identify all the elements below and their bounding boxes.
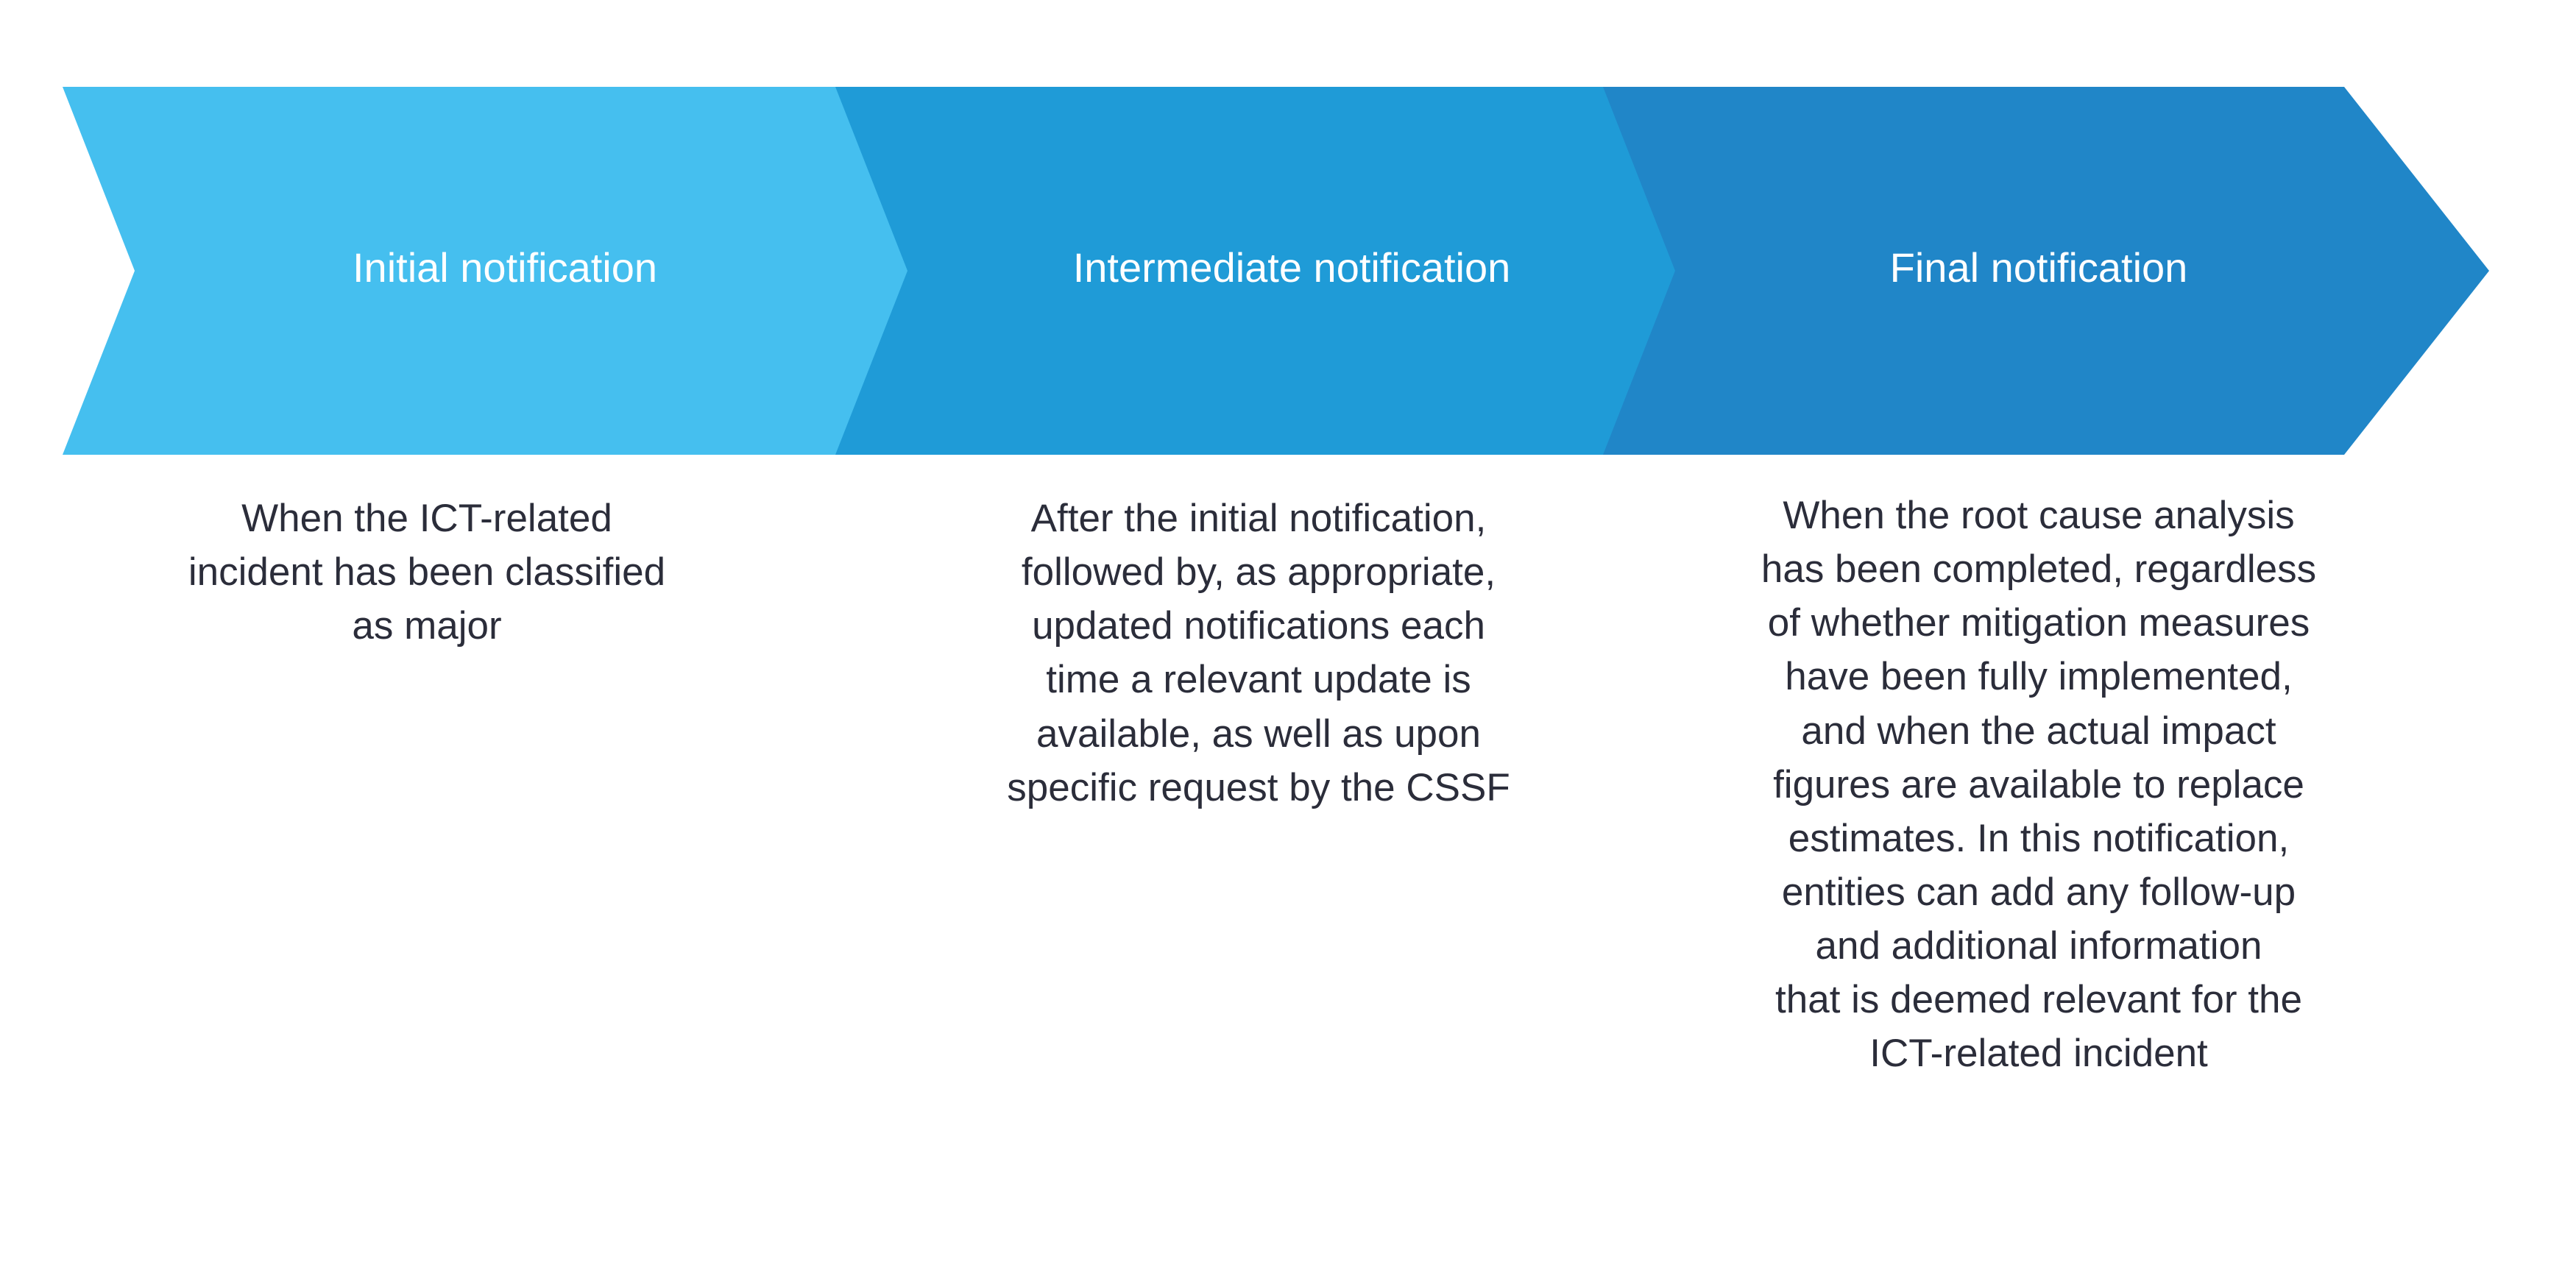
chevron-label-final: Final notification	[1890, 244, 2188, 291]
chevron-shapes: Initial notification Intermediate notifi…	[0, 87, 2576, 455]
chevron-label-intermediate: Intermediate notification	[1073, 244, 1511, 291]
chevron-band: Initial notification Intermediate notifi…	[0, 87, 2576, 455]
description-text-final: When the root cause analysis has been co…	[1663, 489, 2414, 1080]
description-column-final: When the root cause analysis has been co…	[1663, 489, 2414, 1080]
description-text-intermediate: After the initial notification, followed…	[935, 492, 1582, 815]
description-column-intermediate: After the initial notification, followed…	[935, 492, 1582, 815]
chevron-label-initial: Initial notification	[353, 244, 657, 291]
description-column-initial: When the ICT-related incident has been c…	[110, 492, 743, 653]
step-descriptions: When the ICT-related incident has been c…	[0, 492, 2576, 1227]
description-text-initial: When the ICT-related incident has been c…	[110, 492, 743, 653]
chevron-process-diagram: Initial notification Intermediate notifi…	[0, 0, 2576, 1273]
